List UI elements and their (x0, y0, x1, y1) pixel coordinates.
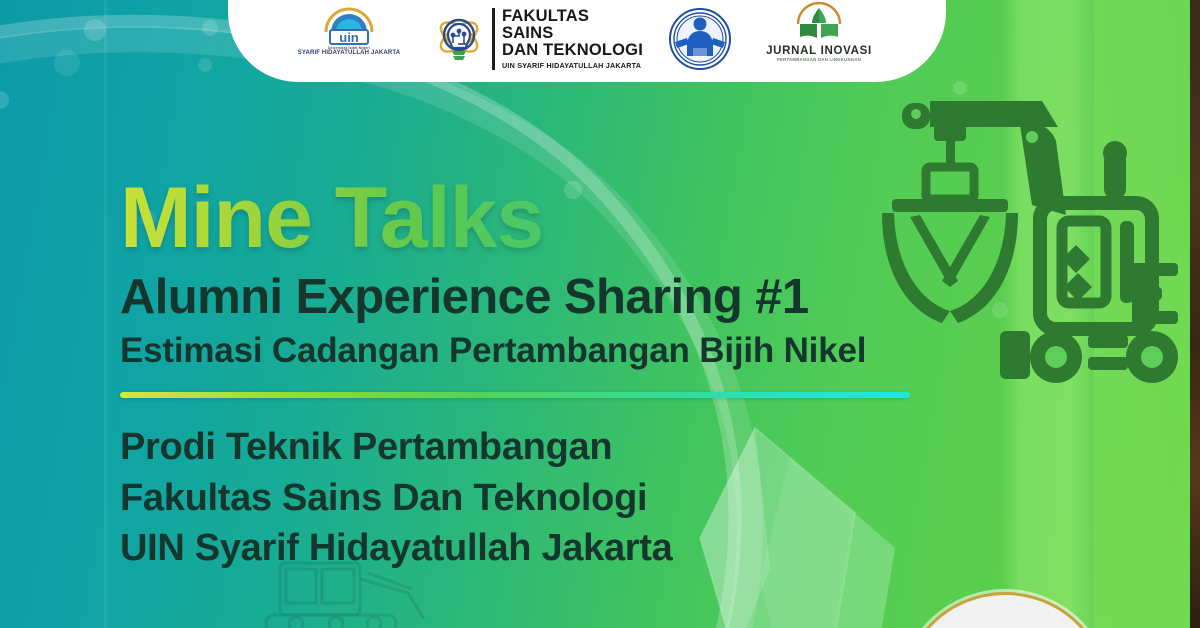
clamshell-grab-icon (880, 95, 1180, 405)
jurnal-sub: PERTAMBANGAN DAN LINGKUNGAN (777, 57, 861, 62)
fst-wordmark: FAKULTAS SAINS DAN TEKNOLOGI UIN SYARIF … (492, 8, 643, 70)
right-edge-strip (1190, 0, 1200, 628)
uin-emblem-icon: uin (318, 2, 380, 46)
poster-title: Mine Talks (120, 176, 920, 260)
open-book-leaf-icon (794, 2, 844, 44)
header-logo-banner: uin Universitas Islam Negeri SYARIF HIDA… (228, 0, 946, 82)
svg-text:uin: uin (339, 30, 359, 45)
fst-line-1: FAKULTAS (502, 8, 643, 25)
fst-line-3: DAN TEKNOLOGI (502, 42, 643, 59)
fakultas-sains-teknologi-logo: FAKULTAS SAINS DAN TEKNOLOGI UIN SYARIF … (431, 2, 643, 76)
gradient-divider (120, 392, 910, 398)
organizer-block: Prodi Teknik Pertambangan Fakultas Sains… (120, 422, 920, 574)
organizer-line-1: Prodi Teknik Pertambangan (120, 422, 920, 473)
uin-logo: uin Universitas Islam Negeri SYARIF HIDA… (293, 2, 405, 76)
panel-seam-left (104, 0, 107, 628)
fst-sub: UIN SYARIF HIDAYATULLAH JAKARTA (502, 61, 643, 70)
organizer-line-3: UIN Syarif Hidayatullah Jakarta (120, 523, 920, 574)
fst-line-2: SAINS (502, 25, 643, 42)
student-association-emblem-icon (669, 8, 731, 70)
poster-content: Mine Talks Alumni Experience Sharing #1 … (120, 176, 920, 574)
poster-subtitle-2: Estimasi Cadangan Pertambangan Bijih Nik… (120, 333, 920, 370)
poster-subtitle-1: Alumni Experience Sharing #1 (120, 272, 920, 323)
organizer-line-2: Fakultas Sains Dan Teknologi (120, 473, 920, 524)
poster-canvas: uin Universitas Islam Negeri SYARIF HIDA… (0, 0, 1200, 628)
himpunan-mahasiswa-logo (669, 2, 731, 76)
uin-sub-main: SYARIF HIDAYATULLAH JAKARTA (298, 50, 401, 56)
jurnal-title: JURNAL INOVASI (766, 45, 872, 57)
jurnal-inovasi-logo: JURNAL INOVASI PERTAMBANGAN DAN LINGKUNG… (757, 2, 881, 76)
lightbulb-atom-icon (431, 11, 487, 67)
